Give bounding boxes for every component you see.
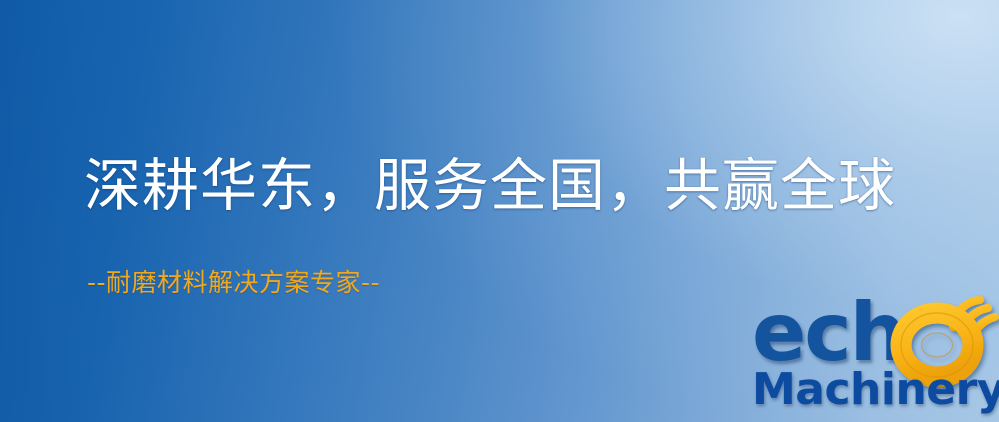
- logo-text-machinery: Machinery®: [752, 368, 999, 412]
- logo-text-ech: ech: [752, 296, 905, 370]
- promo-banner: 深耕华东，服务全国，共赢全球 --耐磨材料解决方案专家-- ech: [0, 0, 999, 422]
- logo-machinery-word: Machinery: [752, 364, 999, 415]
- banner-subtitle: --耐磨材料解决方案专家--: [87, 268, 380, 298]
- company-logo[interactable]: ech: [746, 296, 999, 422]
- logo-wordmark: ech: [752, 296, 905, 370]
- banner-headline: 深耕华东，服务全国，共赢全球: [84, 155, 896, 219]
